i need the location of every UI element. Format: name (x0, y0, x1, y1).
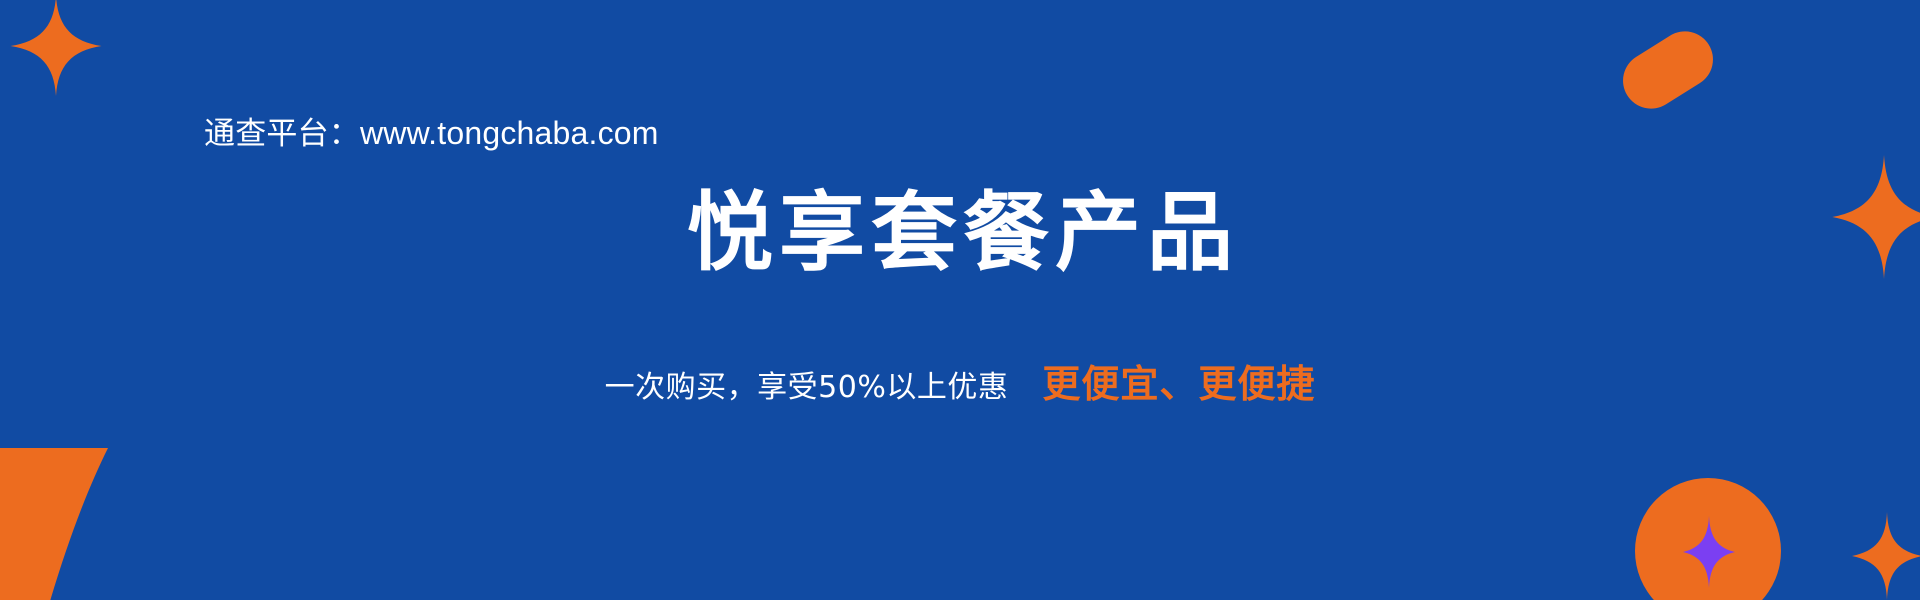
banner-headline: 悦享套餐产品 (0, 185, 1920, 281)
subline-highlight-text: 更便宜、更便捷 (1042, 362, 1315, 406)
platform-url[interactable]: www.tongchaba.com (360, 115, 659, 151)
subline-plain-text: 一次购买，享受50%以上优惠 (605, 370, 1009, 405)
banner-subline: 一次购买，享受50%以上优惠更便宜、更便捷 (0, 362, 1920, 408)
banner-content: 通查平台：www.tongchaba.com 悦享套餐产品 一次购买，享受50%… (0, 0, 1920, 600)
platform-label: 通查平台： (204, 116, 360, 152)
promo-banner: 通查平台：www.tongchaba.com 悦享套餐产品 一次购买，享受50%… (0, 0, 1920, 600)
platform-line: 通查平台：www.tongchaba.com (204, 108, 659, 153)
